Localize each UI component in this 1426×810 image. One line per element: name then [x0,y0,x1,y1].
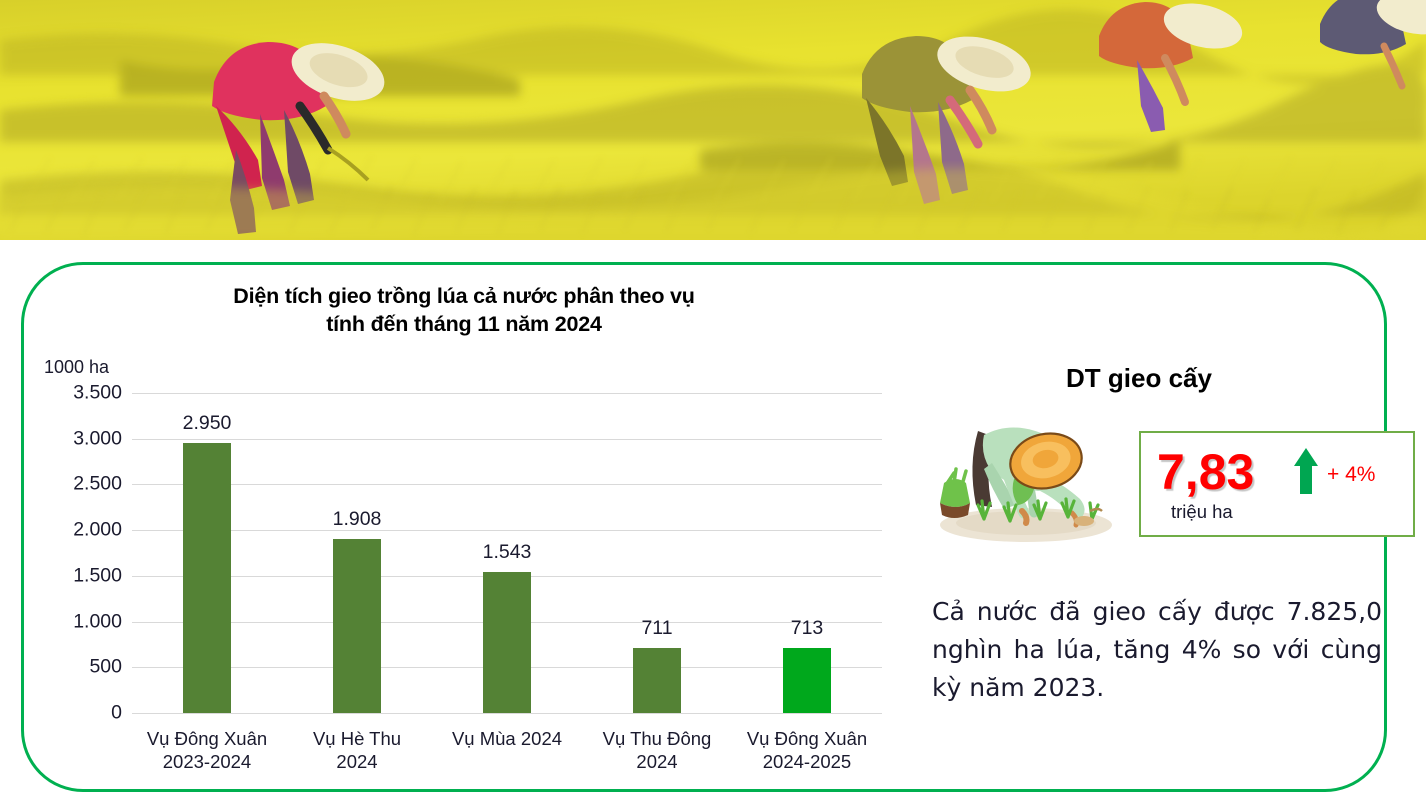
farmer-planting-rice-graphic [922,413,1134,545]
y-axis-tick-label: 0 [111,702,122,725]
bar-group: 1.908Vụ Hè Thu2024 [282,393,432,713]
gridline [132,713,882,714]
x-axis-category-line: Vụ Đông Xuân [727,727,887,750]
right-panel: DT gieo cấy [904,265,1390,795]
chart-title-line-2: tính đến tháng 11 năm 2024 [134,311,794,339]
x-axis-category-line: Vụ Mùa 2024 [427,727,587,750]
x-axis-category-line: 2024 [277,750,437,773]
bar-value-label: 1.908 [333,508,382,531]
summary-text: Cả nước đã gieo cấy được 7.825,0 nghìn h… [932,593,1382,707]
rice-harvest-photo [0,0,1426,240]
plot-area: 05001.0001.5002.0002.5003.0003.500 2.950… [132,393,882,713]
rice-harvest-photo-graphic [0,0,1426,240]
bar[interactable] [333,539,381,713]
x-axis-category-label: Vụ Mùa 2024 [427,727,587,750]
chart-title-line-1: Diện tích gieo trồng lúa cả nước phân th… [134,283,794,311]
farmer-planting-rice-icon [922,413,1134,545]
x-axis-category-line: 2024-2025 [727,750,887,773]
x-axis-category-label: Vụ Đông Xuân2024-2025 [727,727,887,773]
x-axis-category-line: Vụ Đông Xuân [127,727,287,750]
bar[interactable] [183,443,231,713]
content-frame: Diện tích gieo trồng lúa cả nước phân th… [21,262,1387,792]
x-axis-category-label: Vụ Thu Đông2024 [577,727,737,773]
bar-value-label: 711 [641,617,672,640]
bar[interactable] [783,648,831,713]
y-axis-tick-label: 2.000 [73,519,122,542]
stat-delta: + 4% [1327,463,1375,487]
y-axis-tick-label: 3.500 [73,382,122,405]
arrow-up-glyph [1293,447,1319,495]
right-panel-heading: DT gieo cấy [904,363,1374,394]
x-axis-category-line: Vụ Thu Đông [577,727,737,750]
x-axis-category-line: Vụ Hè Thu [277,727,437,750]
bar[interactable] [633,648,681,713]
y-axis-tick-label: 1.500 [73,564,122,587]
arrow-up-icon [1293,447,1319,495]
x-axis-category-line: 2023-2024 [127,750,287,773]
stat-box: 7,83 triệu ha + 4% [1139,431,1415,537]
stat-unit: triệu ha [1171,501,1233,523]
bar-group: 1.543Vụ Mùa 2024 [432,393,582,713]
y-axis-tick-label: 1.000 [73,610,122,633]
bar[interactable] [483,572,531,713]
bar-value-label: 2.950 [183,412,232,435]
bar-value-label: 1.543 [483,541,532,564]
x-axis-category-label: Vụ Hè Thu2024 [277,727,437,773]
y-axis-unit-label: 1000 ha [44,357,109,378]
chart-title: Diện tích gieo trồng lúa cả nước phân th… [134,283,794,338]
y-axis-tick-label: 500 [89,656,122,679]
bar-group: 713Vụ Đông Xuân2024-2025 [732,393,882,713]
bar-group: 711Vụ Thu Đông2024 [582,393,732,713]
bar-chart: Diện tích gieo trồng lúa cả nước phân th… [24,265,904,795]
y-axis-tick-label: 3.000 [73,427,122,450]
bar-value-label: 713 [791,617,824,640]
bar-group: 2.950Vụ Đông Xuân2023-2024 [132,393,282,713]
stat-value: 7,83 [1157,447,1254,497]
x-axis-category-label: Vụ Đông Xuân2023-2024 [127,727,287,773]
y-axis-tick-label: 2.500 [73,473,122,496]
x-axis-category-line: 2024 [577,750,737,773]
